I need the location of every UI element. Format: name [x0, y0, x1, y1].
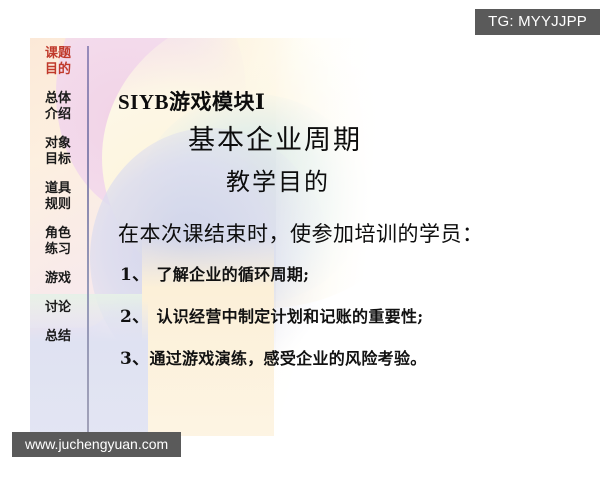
presentation-slide: 课题 目的 总体 介绍 对象 目标 道具 规则 角色 练习 游戏 讨论 总结: [30, 38, 496, 436]
sidebar-item-label-line2: 目标: [45, 152, 71, 168]
objective-text: 了解企业的循环周期;: [156, 265, 309, 284]
sidebar-item-道具规则[interactable]: 道具 规则: [45, 181, 71, 213]
sidebar-item-label: 游戏: [45, 271, 71, 286]
objective-number: 1、: [120, 265, 149, 285]
objective-number: 3、: [120, 349, 149, 369]
sidebar-item-label: 课题: [45, 46, 71, 61]
sidebar-item-label: 对象: [45, 136, 71, 151]
slide-lead-text: 在本次课结束时，使参加培训的学员：: [118, 218, 484, 248]
sidebar-item-讨论[interactable]: 讨论: [45, 300, 71, 316]
sidebar-item-课题目的[interactable]: 课题 目的: [45, 46, 71, 78]
sidebar-item-游戏[interactable]: 游戏: [45, 271, 71, 287]
chapter-navigation: 课题 目的 总体 介绍 对象 目标 道具 规则 角色 练习 游戏 讨论 总结: [30, 42, 86, 434]
slide-content: SIYB游戏模块Ⅰ 基本企业周期 教学目的 在本次课结束时，使参加培训的学员： …: [100, 38, 496, 436]
sidebar-item-label-line2: 规则: [45, 197, 71, 213]
objective-list-item: 1、了解企业的循环周期;: [120, 260, 309, 285]
telegram-watermark-badge: TG: MYYJJPP: [475, 9, 600, 35]
sidebar-item-label: 讨论: [45, 300, 71, 315]
sidebar-item-label: 总结: [45, 329, 71, 344]
objective-list-item: 3、通过游戏演练，感受企业的风险考验。: [120, 344, 427, 369]
site-watermark: www.juchengyuan.com: [12, 432, 181, 457]
sidebar-item-label-line2: 目的: [45, 62, 71, 78]
sidebar-item-label-line2: 介绍: [45, 107, 71, 123]
objective-text: 通过游戏演练，感受企业的风险考验。: [149, 349, 426, 368]
sidebar-item-总体介绍[interactable]: 总体 介绍: [45, 91, 71, 123]
sidebar-item-对象目标[interactable]: 对象 目标: [45, 136, 71, 168]
slide-title-module: SIYB游戏模块Ⅰ: [118, 86, 265, 116]
sidebar-item-label: 总体: [45, 91, 71, 106]
sidebar-item-label-line2: 练习: [45, 242, 71, 258]
sidebar-item-label: 角色: [45, 226, 71, 241]
objective-text: 认识经营中制定计划和记账的重要性;: [156, 307, 423, 326]
sidebar-divider-line: [87, 46, 89, 436]
objective-number: 2、: [120, 307, 149, 327]
slide-title-purpose: 教学目的: [226, 162, 330, 197]
sidebar-item-角色练习[interactable]: 角色 练习: [45, 226, 71, 258]
slide-title-subject: 基本企业周期: [188, 118, 362, 157]
sidebar-item-总结[interactable]: 总结: [45, 329, 71, 345]
objective-list-item: 2、认识经营中制定计划和记账的重要性;: [120, 302, 423, 327]
sidebar-item-label: 道具: [45, 181, 71, 196]
